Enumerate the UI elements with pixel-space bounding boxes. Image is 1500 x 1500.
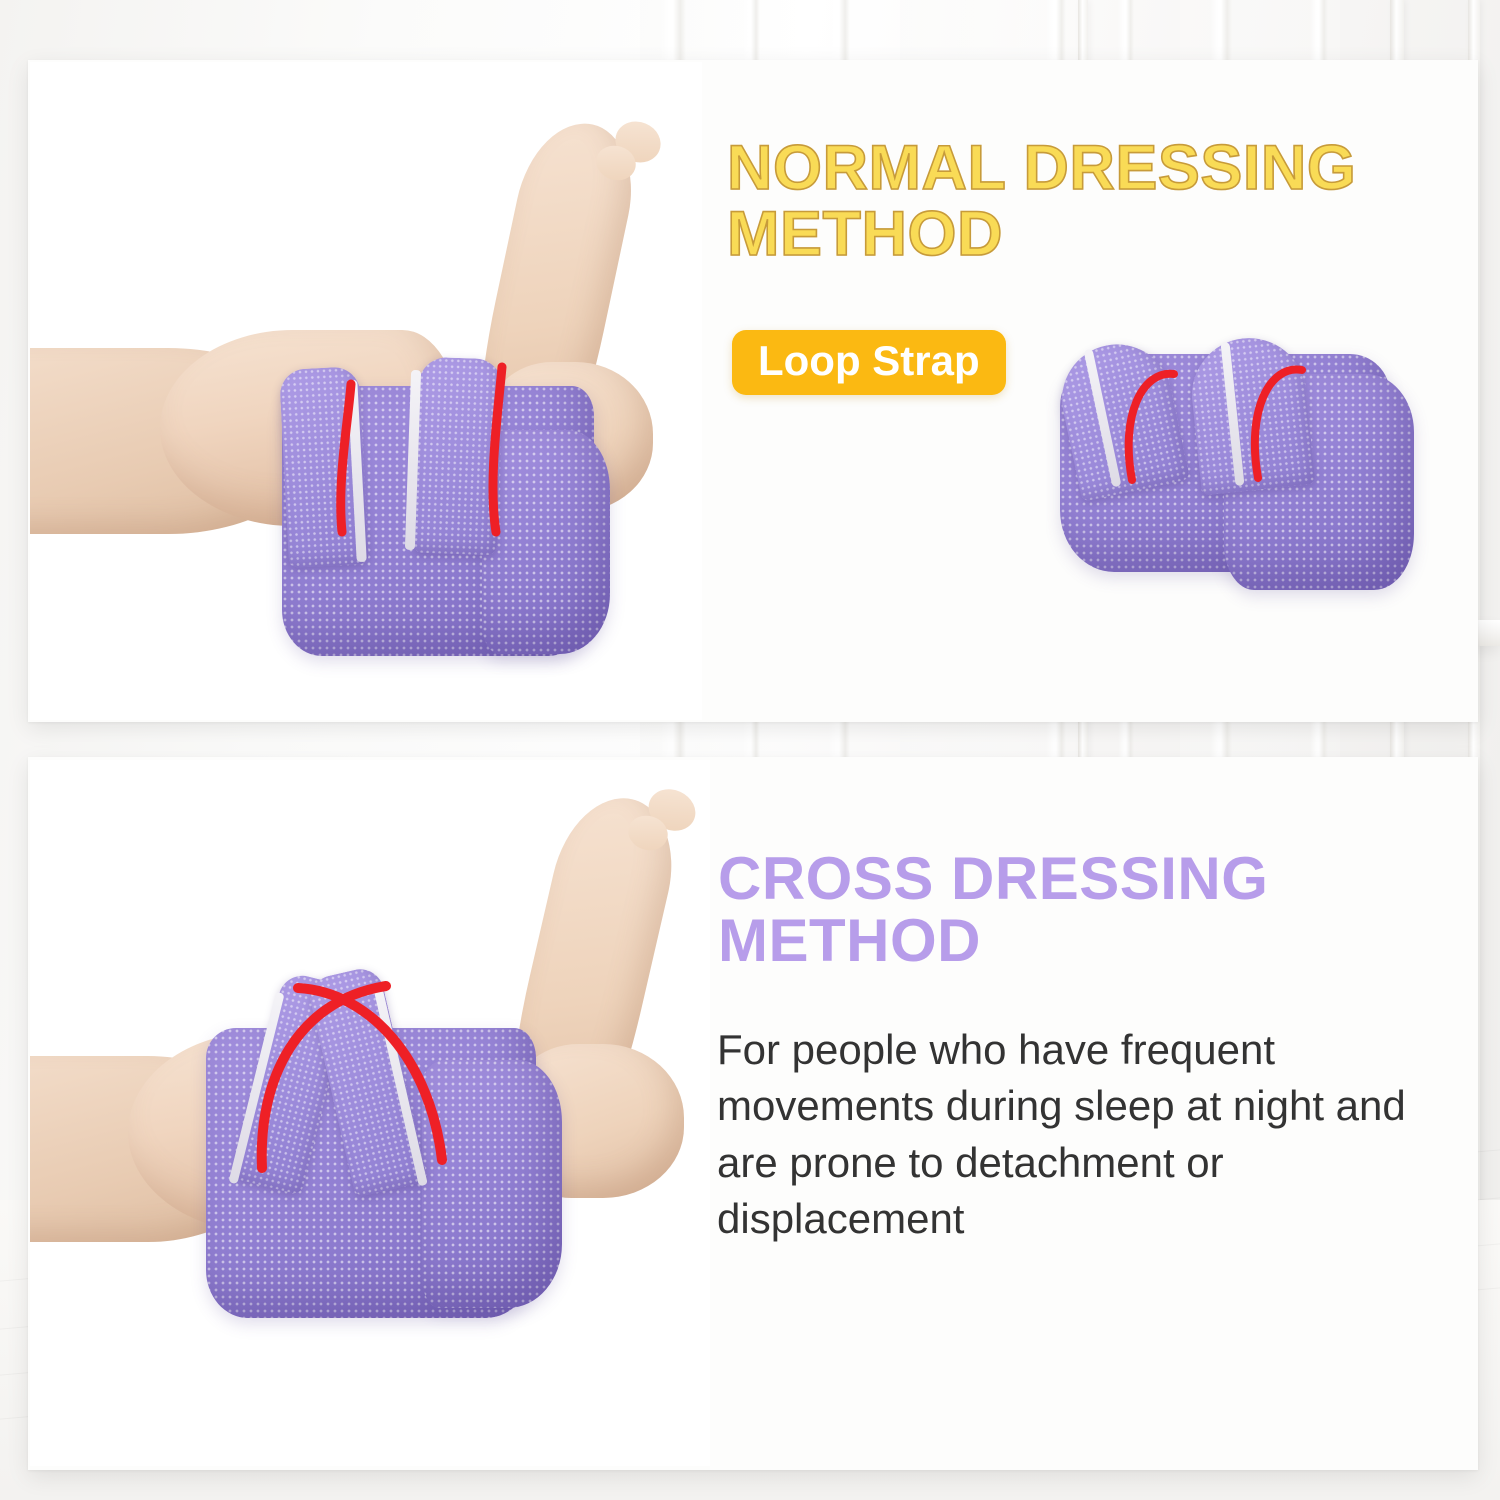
badge-loop-strap: Loop Strap	[732, 330, 1006, 395]
photo-cross-dressing	[30, 760, 710, 1466]
body-text-cross-dressing: For people who have frequent movements d…	[717, 1022, 1457, 1247]
headline-cross-dressing: CROSS DRESSING METHOD	[718, 848, 1418, 973]
cross-strap-arrows	[30, 760, 710, 1466]
photo-normal-dressing	[30, 62, 702, 720]
product-strap-arrows	[1046, 330, 1446, 660]
strap-direction-arrows	[30, 62, 702, 720]
photo-product-standalone	[1046, 330, 1446, 660]
headline-normal-dressing: NORMAL DRESSING METHOD	[727, 136, 1427, 267]
